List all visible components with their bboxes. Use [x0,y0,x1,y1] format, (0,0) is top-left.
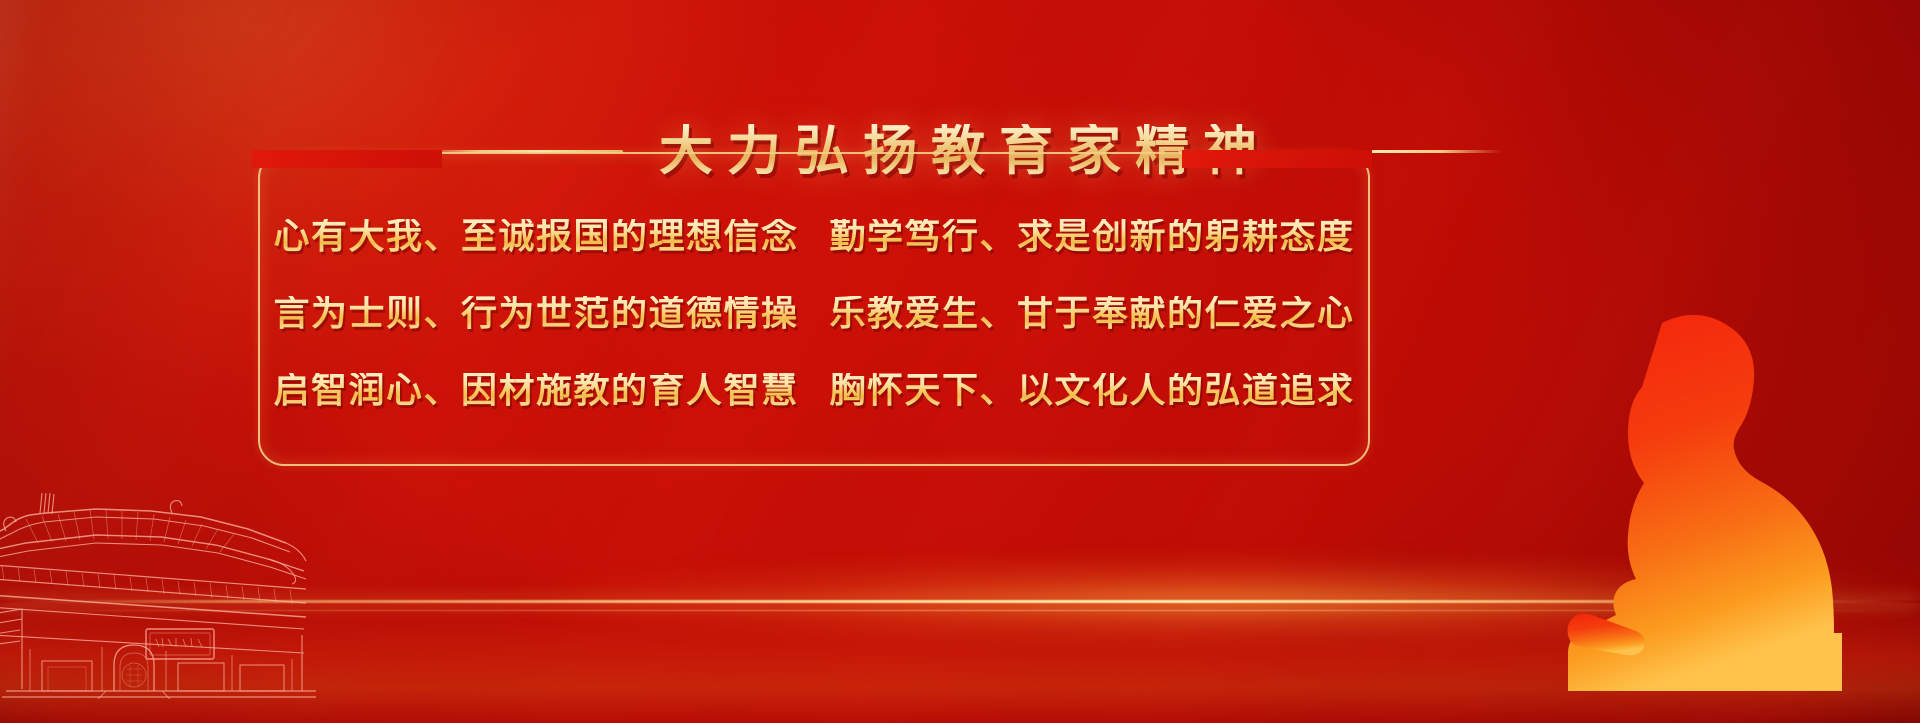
slogan-line: 胸怀天下、以文化人的弘道追求 [829,373,1354,409]
slogan-line: 心有大我、至诚报国的理想信念 [273,219,798,255]
slogan-cell: 言为士则、行为世范的道德情操 [258,296,814,332]
slogan-cell: 乐教爱生、甘于奉献的仁爱之心 [814,296,1370,332]
tiananmen-gate-icon [0,439,316,699]
slogan-grid: 心有大我、至诚报国的理想信念 勤学笃行、求是创新的躬耕态度 言为士则、行为世范的… [258,198,1370,430]
slogan-line: 勤学笃行、求是创新的躬耕态度 [829,219,1354,255]
slogan-cell: 启智润心、因材施教的育人智慧 [258,373,814,409]
page-title: 大力弘扬教育家精神 [649,124,1271,178]
frame-notch-left [252,150,442,168]
teacher-silhouette [1512,301,1842,691]
slogan-line: 乐教爱生、甘于奉献的仁爱之心 [829,296,1354,332]
title-rule-left [418,150,623,153]
frame-notch-right [1182,150,1372,168]
education-spirit-banner: 大力弘扬教育家精神 心有大我、至诚报国的理想信念 勤学笃行、求是创新的躬耕态度 … [0,0,1920,723]
slogan-line: 言为士则、行为世范的道德情操 [273,296,798,332]
slogan-line: 启智润心、因材施教的育人智慧 [273,373,798,409]
slogan-cell: 胸怀天下、以文化人的弘道追求 [814,373,1370,409]
slogan-cell: 勤学笃行、求是创新的躬耕态度 [814,219,1370,255]
slogan-cell: 心有大我、至诚报国的理想信念 [258,219,814,255]
